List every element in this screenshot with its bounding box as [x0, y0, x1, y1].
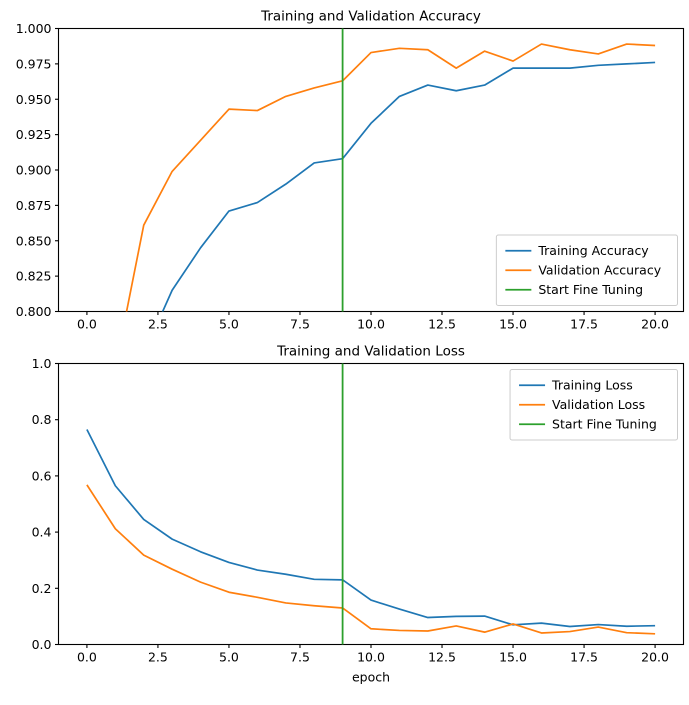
y-tick-label: 0.875: [16, 198, 52, 213]
y-tick-label: 0.975: [16, 56, 52, 71]
series-line-training-loss: [87, 430, 655, 627]
y-axis-loss: 0.00.20.40.60.81.0: [32, 356, 59, 652]
y-tick-label: 0.925: [16, 127, 52, 142]
y-tick-label: 0.900: [16, 163, 52, 178]
x-tick-label: 20.0: [641, 650, 669, 665]
x-tick-label: 10.0: [357, 650, 385, 665]
y-tick-label: 0.0: [32, 637, 52, 652]
y-axis-accuracy: 0.8000.8250.8500.8750.9000.9250.9500.975…: [16, 21, 59, 319]
legend-label: Validation Accuracy: [538, 262, 661, 277]
x-tick-label: 0.0: [77, 317, 97, 332]
x-tick-label: 7.5: [290, 317, 310, 332]
legend-label: Validation Loss: [552, 397, 645, 412]
x-tick-label: 10.0: [357, 317, 385, 332]
figure-canvas: Training and Validation Accuracy0.8000.8…: [0, 0, 689, 701]
x-tick-label: 15.0: [499, 650, 527, 665]
legend-label: Start Fine Tuning: [538, 282, 643, 297]
y-tick-label: 0.800: [16, 304, 52, 319]
series-line-validation-loss: [87, 485, 655, 634]
x-tick-label: 2.5: [148, 650, 168, 665]
y-tick-label: 0.2: [32, 581, 52, 596]
legend-label: Training Accuracy: [537, 243, 649, 258]
chart-title-loss: Training and Validation Loss: [276, 344, 465, 360]
y-tick-label: 0.850: [16, 233, 52, 248]
legend-label: Training Loss: [551, 377, 633, 392]
x-tick-label: 12.5: [428, 650, 456, 665]
y-tick-label: 0.6: [32, 468, 52, 483]
x-tick-label: 17.5: [570, 317, 598, 332]
x-tick-label: 20.0: [641, 317, 669, 332]
x-tick-label: 15.0: [499, 317, 527, 332]
x-tick-label: 2.5: [148, 317, 168, 332]
y-tick-label: 0.8: [32, 412, 52, 427]
x-axis-loss: 0.02.55.07.510.012.515.017.520.0: [77, 645, 669, 665]
y-tick-label: 0.950: [16, 92, 52, 107]
y-tick-label: 0.825: [16, 269, 52, 284]
x-tick-label: 7.5: [290, 650, 310, 665]
y-tick-label: 1.0: [32, 356, 52, 371]
legend-loss: Training LossValidation LossStart Fine T…: [510, 370, 677, 441]
legend-label: Start Fine Tuning: [552, 416, 657, 431]
y-tick-label: 1.000: [16, 21, 52, 36]
matplotlib-figure: Training and Validation Accuracy0.8000.8…: [0, 0, 689, 701]
chart-title-accuracy: Training and Validation Accuracy: [260, 9, 481, 25]
x-tick-label: 12.5: [428, 317, 456, 332]
legend-accuracy: Training AccuracyValidation AccuracyStar…: [496, 235, 677, 306]
x-tick-label: 5.0: [219, 317, 239, 332]
axes-loss: Training and Validation Loss0.00.20.40.6…: [32, 344, 684, 685]
x-tick-label: 5.0: [219, 650, 239, 665]
x-axis-label-loss: epoch: [352, 670, 390, 685]
x-axis-accuracy: 0.02.55.07.510.012.515.017.520.0: [77, 312, 669, 332]
x-tick-label: 17.5: [570, 650, 598, 665]
y-tick-label: 0.4: [32, 525, 52, 540]
x-tick-label: 0.0: [77, 650, 97, 665]
